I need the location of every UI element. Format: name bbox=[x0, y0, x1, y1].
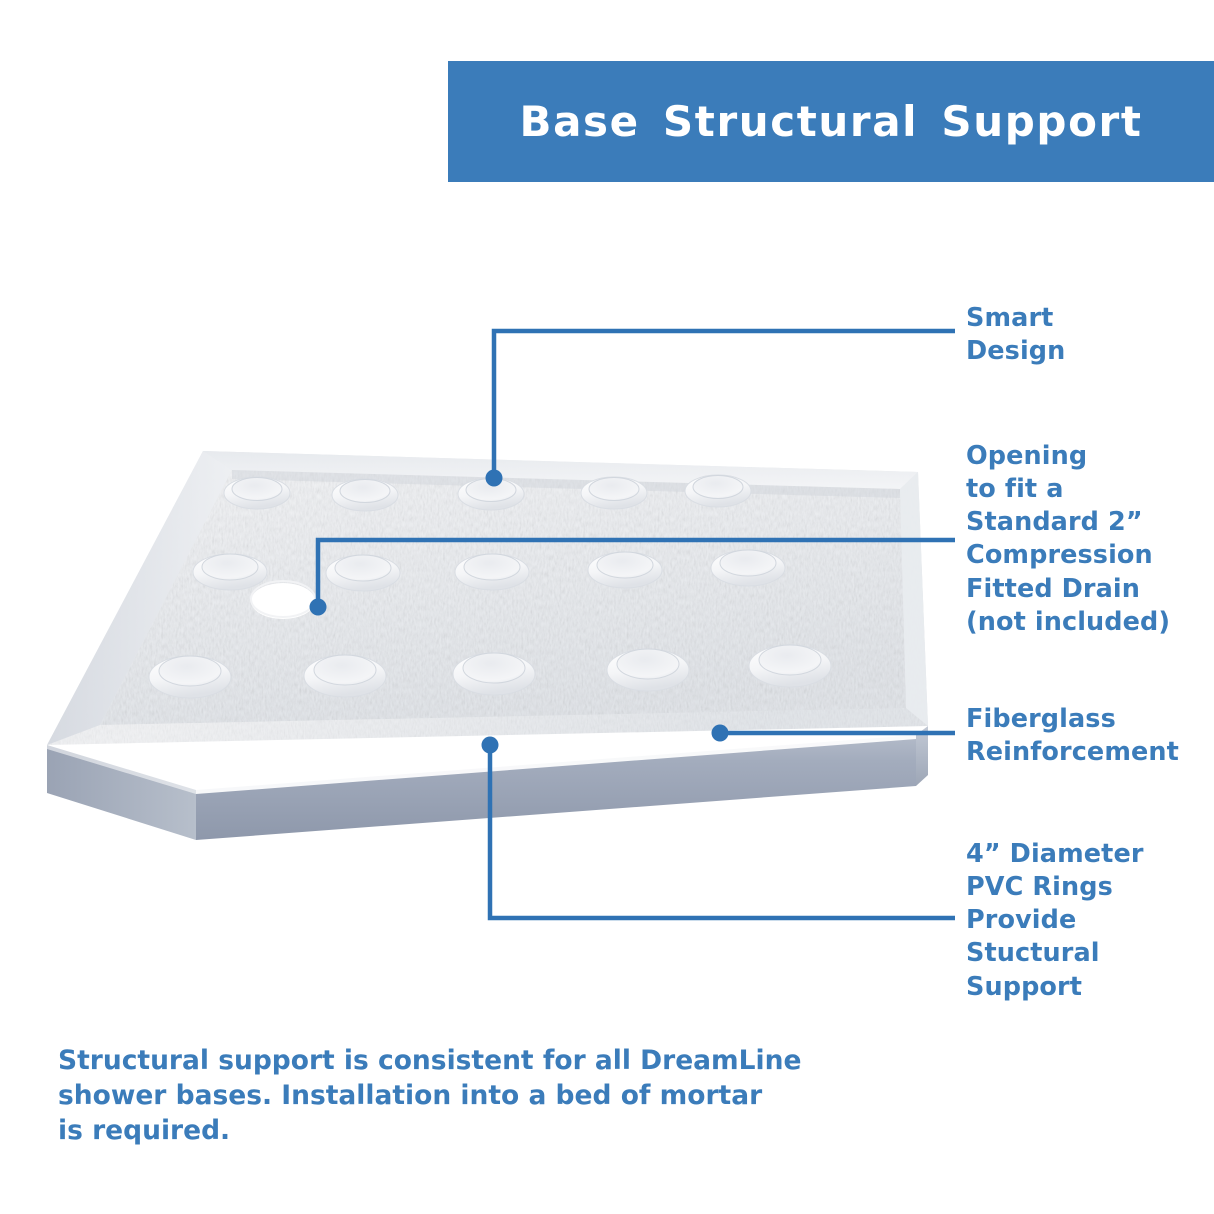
header-banner: Base Structural Support bbox=[448, 61, 1214, 182]
drain-opening bbox=[251, 581, 315, 619]
leader-dot-drain-opening bbox=[310, 599, 327, 616]
base-left-highlight bbox=[47, 743, 196, 794]
base-perimeter-lip bbox=[47, 451, 928, 745]
pvc-ring-row-front bbox=[149, 645, 831, 698]
base-slab-sides bbox=[47, 726, 928, 840]
pvc-ring bbox=[588, 552, 662, 588]
pvc-ring bbox=[607, 649, 689, 691]
callout-label-drain-opening: Opening to fit a Standard 2” Compression… bbox=[966, 440, 1214, 639]
pvc-ring bbox=[224, 477, 290, 509]
pvc-ring bbox=[749, 645, 831, 687]
pvc-ring bbox=[685, 475, 751, 507]
base-front-side-face bbox=[196, 735, 916, 840]
pvc-ring bbox=[304, 655, 386, 697]
callout-label-fiberglass: Fiberglass Reinforcement bbox=[966, 703, 1214, 769]
callout-label-pvc-rings: 4” Diameter PVC Rings Provide Stuctural … bbox=[966, 838, 1214, 1004]
pvc-ring bbox=[326, 555, 400, 591]
pvc-ring bbox=[193, 554, 267, 590]
lip-top-surface bbox=[47, 451, 928, 745]
base-left-side-face bbox=[47, 745, 196, 840]
leader-line-drain-opening bbox=[318, 540, 955, 607]
pvc-ring bbox=[458, 478, 524, 510]
drain-hole bbox=[251, 583, 315, 619]
pvc-ring bbox=[332, 479, 398, 511]
lip-inner-left-wall bbox=[47, 451, 232, 745]
pvc-ring-row-middle bbox=[193, 550, 785, 591]
bottom-caption: Structural support is consistent for all… bbox=[58, 1043, 818, 1149]
pvc-ring-row-back bbox=[224, 475, 751, 511]
base-right-side-face bbox=[916, 726, 928, 786]
leader-dot-fiberglass bbox=[712, 725, 729, 742]
pvc-ring bbox=[453, 653, 535, 695]
pvc-ring bbox=[711, 550, 785, 586]
infographic-canvas: Base Structural Support Smart Design Ope… bbox=[0, 0, 1214, 1214]
floor-back-shadow bbox=[232, 470, 900, 498]
base-front-highlight bbox=[196, 733, 916, 794]
page-title: Base Structural Support bbox=[519, 101, 1142, 143]
callout-label-smart-design: Smart Design bbox=[966, 302, 1214, 368]
leader-line-smart-design bbox=[494, 331, 955, 478]
leader-line-pvc-rings bbox=[490, 745, 955, 918]
base-inner-floor bbox=[47, 451, 928, 745]
pvc-ring bbox=[455, 554, 529, 590]
lip-inner-right-wall bbox=[900, 472, 928, 726]
pvc-ring bbox=[149, 656, 231, 698]
leader-dot-pvc-rings bbox=[482, 737, 499, 754]
floor-surface bbox=[100, 470, 906, 725]
pvc-ring bbox=[581, 477, 647, 509]
lip-inner-back-wall bbox=[203, 451, 918, 489]
leader-dot-smart-design bbox=[486, 470, 503, 487]
